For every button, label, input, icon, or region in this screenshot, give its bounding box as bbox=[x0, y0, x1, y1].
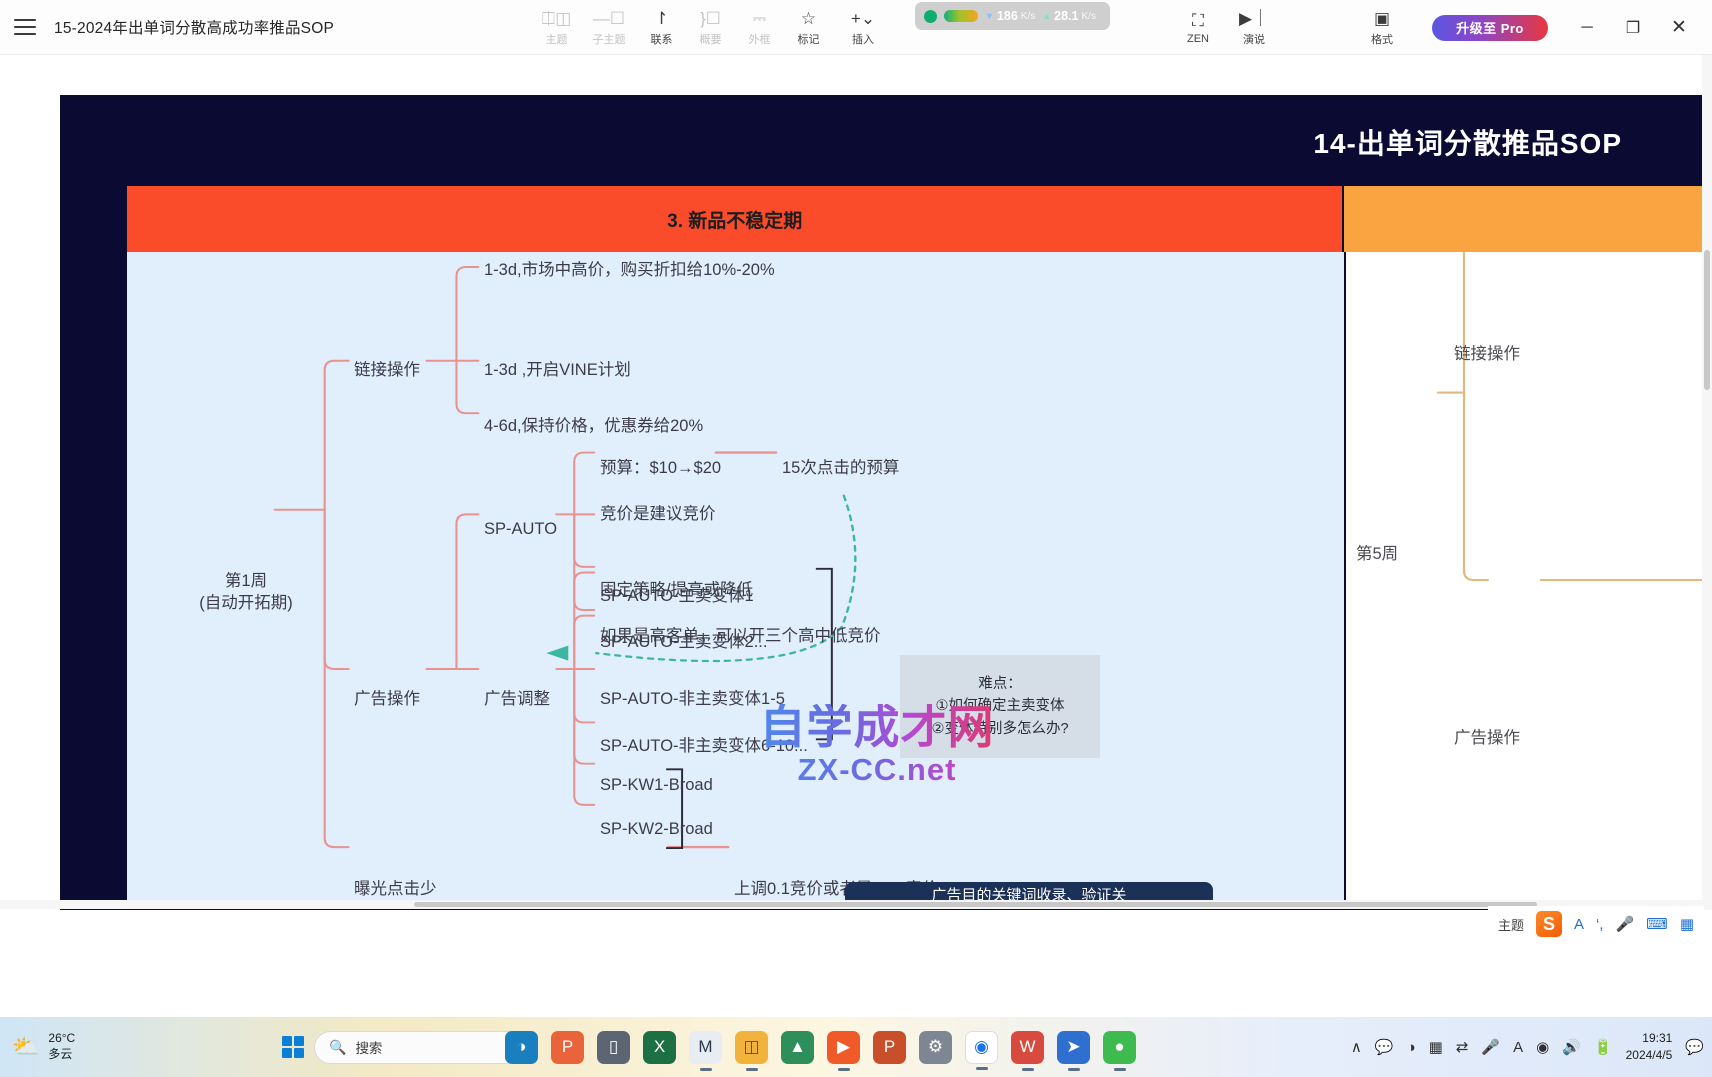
toolbar-relation-button[interactable]: ↾ 联系 bbox=[637, 2, 686, 54]
window-minimize-button[interactable]: ─ bbox=[1564, 5, 1610, 51]
toolbar-center: ⎅◫ 主题 —☐ 子主题 ↾ 联系 }☐ 概要 ⎓ 外框 ☆ 标记 bbox=[532, 0, 893, 55]
gradient-meter-icon bbox=[944, 10, 978, 22]
toolbar-summary-button[interactable]: }☐ 概要 bbox=[686, 2, 735, 54]
hamburger-icon[interactable] bbox=[14, 19, 36, 35]
board-body: 第1周 (自动开拓期) 链接操作 广告操作 曝光点击少 1-3d,市场中高价，购… bbox=[62, 252, 1712, 908]
node-sp-auto[interactable]: SP-AUTO bbox=[484, 520, 557, 539]
window-close-button[interactable]: ✕ bbox=[1656, 5, 1702, 51]
apps-icon[interactable]: ▦ bbox=[1680, 915, 1694, 933]
download-value: 186 bbox=[997, 9, 1018, 23]
search-input[interactable]: 🔍 搜索 bbox=[314, 1031, 530, 1064]
download-unit: K/s bbox=[1021, 11, 1035, 22]
toolbar-subtopic-button[interactable]: —☐ 子主题 bbox=[581, 2, 637, 54]
phase3-pane[interactable]: 第1周 (自动开拓期) 链接操作 广告操作 曝光点击少 1-3d,市场中高价，购… bbox=[127, 252, 1346, 908]
difficulty-note-line-2: ①如何确定主卖变体 bbox=[936, 695, 1065, 717]
toolbar-relation-label: 联系 bbox=[651, 31, 673, 47]
root-line-2: (自动开拓期) bbox=[191, 592, 301, 614]
zen-mode-button[interactable]: ⛶ ZEN bbox=[1170, 2, 1226, 54]
status-dot-icon bbox=[924, 10, 937, 23]
taskbar-center: 🔍 搜索 bbox=[282, 1031, 530, 1064]
present-label: 演说 bbox=[1243, 31, 1265, 47]
edge-tray-icon[interactable]: ◑ bbox=[1407, 1039, 1416, 1056]
equalizer-icon[interactable]: ⇄ bbox=[1456, 1038, 1469, 1056]
xmind-tray-icon[interactable]: ▦ bbox=[1429, 1038, 1443, 1056]
toolbar-subtopic-label: 子主题 bbox=[593, 31, 626, 47]
vertical-scrollbar[interactable] bbox=[1702, 55, 1712, 910]
explorer-app[interactable]: ◫ bbox=[735, 1031, 768, 1064]
title-bar: 15-2024年出单词分散高成功率推品SOP ⎅◫ 主题 —☐ 子主题 ↾ 联系… bbox=[0, 0, 1712, 55]
node-link-child-3[interactable]: 4-6d,保持价格，优惠券给20% bbox=[484, 412, 703, 436]
windows-start-icon[interactable] bbox=[282, 1036, 304, 1058]
summary-icon: }☐ bbox=[700, 8, 721, 28]
notification-icon[interactable]: 💬 bbox=[1685, 1038, 1704, 1056]
clock-time: 19:31 bbox=[1626, 1030, 1673, 1047]
next-phase-pane[interactable]: 第5周 链接操作 广告操作 bbox=[1346, 252, 1712, 908]
taskbar-clock[interactable]: 19:31 2024/4/5 bbox=[1626, 1030, 1673, 1064]
upload-speed: ▲ 28.1 K/s bbox=[1042, 9, 1096, 23]
node-variant-1[interactable]: SP-AUTO-主卖变体1 bbox=[600, 582, 754, 606]
xmind-app[interactable]: M bbox=[689, 1031, 722, 1064]
body-spacer bbox=[62, 252, 127, 908]
chrome-pre-app[interactable]: P bbox=[551, 1031, 584, 1064]
wifi-icon[interactable]: ◉ bbox=[1536, 1038, 1549, 1056]
weather-widget[interactable]: ⛅ 26°C 多云 bbox=[12, 1031, 162, 1062]
weather-condition: 多云 bbox=[48, 1047, 75, 1063]
ime-mode-label: 主题 bbox=[1498, 915, 1524, 934]
zen-label: ZEN bbox=[1187, 33, 1209, 45]
node-ad-operations[interactable]: 广告操作 bbox=[354, 685, 420, 709]
horizontal-scrollbar[interactable] bbox=[0, 900, 1712, 909]
folder-app[interactable]: ▯ bbox=[597, 1031, 630, 1064]
toolbar-insert-label: 插入 bbox=[852, 31, 874, 47]
ime-toolbar[interactable]: 主题 S A ‘, 🎤 ⌨ ▦ bbox=[1488, 906, 1704, 942]
ime-a-icon[interactable]: A bbox=[1513, 1039, 1523, 1056]
wechat-tray-icon[interactable]: 💬 bbox=[1375, 1038, 1394, 1056]
node-budget-detail[interactable]: 15次点击的预算 bbox=[782, 454, 899, 478]
upload-arrow-icon: ▲ bbox=[1042, 11, 1051, 21]
maps-app[interactable]: ▲ bbox=[781, 1031, 814, 1064]
node-kw1-broad[interactable]: SP-KW1-Broad bbox=[600, 776, 713, 795]
node-kw2-broad[interactable]: SP-KW2-Broad bbox=[600, 820, 713, 839]
toolbar-topic-button[interactable]: ⎅◫ 主题 bbox=[532, 2, 581, 54]
taskbar: ⛅ 26°C 多云 🔍 搜索 ◑ P ▯ X M ◫ ▲ ▶ P ⚙ ◉ W bbox=[0, 1017, 1712, 1077]
presentation-button[interactable]: ▶｜ 演说 bbox=[1226, 2, 1282, 54]
tray-chevron-icon[interactable]: ∧ bbox=[1351, 1038, 1362, 1056]
excel-app[interactable]: X bbox=[643, 1031, 676, 1064]
sogou-logo-icon[interactable]: S bbox=[1536, 911, 1562, 937]
node-week5[interactable]: 第5周 bbox=[1356, 540, 1398, 564]
node-week5-link-ops[interactable]: 链接操作 bbox=[1454, 340, 1520, 364]
battery-icon[interactable]: 🔋 bbox=[1594, 1038, 1613, 1056]
edge-app[interactable]: ◑ bbox=[505, 1031, 538, 1064]
watermark-line-2: ZX-CC.net bbox=[742, 754, 1012, 785]
upload-value: 28.1 bbox=[1054, 9, 1078, 23]
wechat-app[interactable]: ● bbox=[1103, 1031, 1136, 1064]
download-arrow-icon: ▼ bbox=[985, 11, 994, 21]
formatpane-icon: ▣ bbox=[1374, 8, 1390, 28]
insert-icon: +⌄ bbox=[851, 8, 875, 28]
toolbar-topic-label: 主题 bbox=[546, 31, 568, 47]
weather-text: 26°C 多云 bbox=[48, 1031, 75, 1062]
horizontal-scroll-thumb[interactable] bbox=[414, 902, 1537, 907]
node-sp-auto-bid[interactable]: 竞价是建议竞价 bbox=[600, 500, 716, 524]
app-window: 15-2024年出单词分散高成功率推品SOP ⎅◫ 主题 —☐ 子主题 ↾ 联系… bbox=[0, 0, 1712, 1077]
node-link-child-1[interactable]: 1-3d,市场中高价，购买折扣给10%-20% bbox=[484, 256, 775, 280]
font-icon[interactable]: A bbox=[1574, 916, 1584, 933]
vertical-scroll-thumb[interactable] bbox=[1704, 250, 1710, 390]
node-ad-adjustment[interactable]: 广告调整 bbox=[484, 685, 550, 709]
boundary-icon: ⎓ bbox=[753, 8, 767, 28]
board-title: 14-出单词分散推品SOP bbox=[1313, 122, 1622, 162]
toolbar-marker-label: 标记 bbox=[798, 31, 820, 47]
volume-icon[interactable]: 🔊 bbox=[1562, 1038, 1581, 1056]
mindmap-board: 14-出单词分散推品SOP 3. 新品不稳定期 bbox=[60, 95, 1712, 910]
node-link-child-2[interactable]: 1-3d ,开启VINE计划 bbox=[484, 356, 631, 380]
chrome-app[interactable]: ◉ bbox=[965, 1031, 998, 1064]
node-variant-4[interactable]: SP-AUTO-非主卖变体6-10... bbox=[600, 732, 808, 756]
upload-unit: K/s bbox=[1082, 11, 1096, 22]
weather-temperature: 26°C bbox=[48, 1031, 75, 1047]
network-speed-widget[interactable]: ▼ 186 K/s ▲ 28.1 K/s bbox=[915, 2, 1110, 30]
difficulty-note[interactable]: 难点： ①如何确定主卖变体 ②变体特别多怎么办? bbox=[900, 655, 1100, 758]
taskbar-apps: ◑ P ▯ X M ◫ ▲ ▶ P ⚙ ◉ W ➤ ● bbox=[505, 1031, 1136, 1064]
ppt-app[interactable]: P bbox=[873, 1031, 906, 1064]
mindmap-canvas[interactable]: 14-出单词分散推品SOP 3. 新品不稳定期 bbox=[0, 55, 1712, 910]
video-app[interactable]: ▶ bbox=[827, 1031, 860, 1064]
punctuation-icon[interactable]: ‘, bbox=[1596, 916, 1604, 933]
toolbar-summary-label: 概要 bbox=[700, 31, 722, 47]
mic-tray-icon[interactable]: 🎤 bbox=[1481, 1038, 1500, 1056]
window-maximize-button[interactable]: ❐ bbox=[1610, 5, 1656, 51]
topic-icon: ⎅◫ bbox=[542, 8, 572, 28]
format-label: 格式 bbox=[1371, 31, 1393, 47]
format-pane-button[interactable]: ▣ 格式 bbox=[1354, 2, 1410, 54]
clock-date: 2024/4/5 bbox=[1626, 1047, 1673, 1064]
keyboard-icon[interactable]: ⌨ bbox=[1646, 915, 1668, 933]
toolbar-insert-button[interactable]: +⌄ 插入 bbox=[833, 2, 893, 54]
toolbar-boundary-label: 外框 bbox=[749, 31, 771, 47]
difficulty-note-line-3: ②变体特别多怎么办? bbox=[931, 718, 1068, 740]
difficulty-note-line-1: 难点： bbox=[978, 673, 1022, 695]
relation-icon: ↾ bbox=[654, 8, 668, 28]
board-header: 14-出单词分散推品SOP bbox=[62, 97, 1712, 186]
marker-icon: ☆ bbox=[801, 8, 816, 28]
search-icon: 🔍 bbox=[329, 1039, 346, 1056]
zen-icon: ⛶ bbox=[1192, 10, 1204, 30]
toolbar-marker-button[interactable]: ☆ 标记 bbox=[784, 2, 833, 54]
node-link-operations[interactable]: 链接操作 bbox=[354, 356, 420, 380]
subtopic-icon: —☐ bbox=[593, 8, 625, 28]
download-speed: ▼ 186 K/s bbox=[985, 9, 1035, 23]
bird-app[interactable]: ➤ bbox=[1057, 1031, 1090, 1064]
toolbar-right: ⛶ ZEN ▶｜ 演说 ▣ 格式 升级至 Pro ─ ❐ ✕ bbox=[1170, 0, 1702, 55]
column-spacer bbox=[62, 186, 127, 252]
right-branch-connectors bbox=[1346, 252, 1712, 908]
present-icon: ▶｜ bbox=[1239, 8, 1269, 28]
mic-icon[interactable]: 🎤 bbox=[1615, 915, 1634, 933]
upgrade-pro-button[interactable]: 升级至 Pro bbox=[1432, 15, 1548, 41]
document-title: 15-2024年出单词分散高成功率推品SOP bbox=[54, 16, 334, 38]
column-header-phase3[interactable]: 3. 新品不稳定期 bbox=[127, 186, 1345, 252]
node-low-impressions[interactable]: 曝光点击少 bbox=[354, 875, 437, 899]
node-variant-3[interactable]: SP-AUTO-非主卖变体1-5 bbox=[600, 685, 785, 709]
column-header-row: 3. 新品不稳定期 bbox=[62, 186, 1712, 252]
search-placeholder: 搜索 bbox=[355, 1037, 382, 1057]
column-header-next[interactable] bbox=[1344, 186, 1712, 252]
node-variant-2[interactable]: SP-AUTO-主卖变体2... bbox=[600, 628, 767, 652]
node-week5-ad-ops[interactable]: 广告操作 bbox=[1454, 724, 1520, 748]
wps-app[interactable]: W bbox=[1011, 1031, 1044, 1064]
mindmap-root[interactable]: 第1周 (自动开拓期) bbox=[191, 570, 301, 615]
node-sp-auto-budget[interactable]: 预算：$10→$20 bbox=[600, 454, 721, 478]
toolbar-boundary-button[interactable]: ⎓ 外框 bbox=[735, 2, 784, 54]
partly-cloudy-icon: ⛅ bbox=[12, 1034, 39, 1060]
system-tray: ∧ 💬 ◑ ▦ ⇄ 🎤 A ◉ 🔊 🔋 19:31 2024/4/5 💬 bbox=[1351, 1030, 1704, 1064]
root-line-1: 第1周 bbox=[191, 570, 301, 592]
settings-app[interactable]: ⚙ bbox=[919, 1031, 952, 1064]
